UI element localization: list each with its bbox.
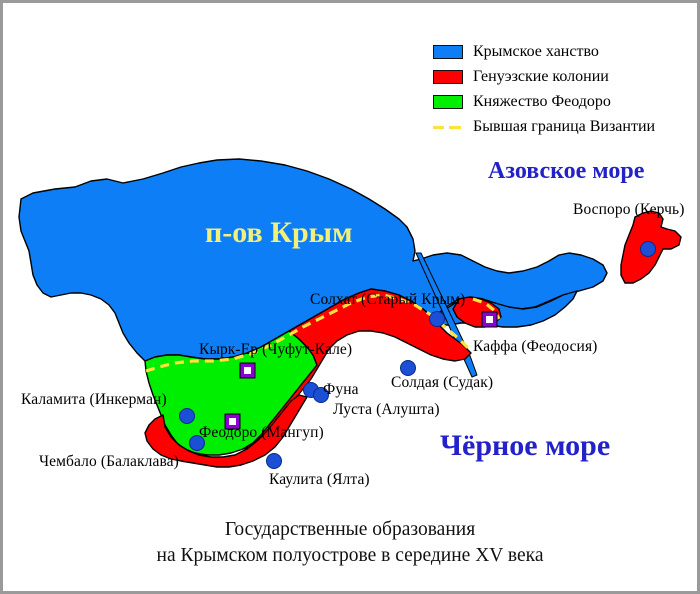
city-label-chembalo: Чембало (Балаклава) xyxy=(39,453,179,471)
green-swatch-icon xyxy=(433,95,463,109)
peninsula-label-crimea: п-ов Крым xyxy=(205,216,353,250)
legend-item-khanate: Крымское ханство xyxy=(433,41,655,63)
city-label-kalamita: Каламита (Инкерман) xyxy=(21,391,167,409)
figure-caption: Государственные образования на Крымском … xyxy=(3,517,697,569)
city-label-kyrk-er: Кырк-Ер (Чуфут-Кале) xyxy=(199,341,352,359)
city-label-bosporo: Воспоро (Керчь) xyxy=(573,201,684,219)
sea-label-azov: Азовское море xyxy=(488,158,644,185)
city-dot-kalamita xyxy=(180,409,195,424)
legend-item-byzantine-border: Бывшая граница Византии xyxy=(433,116,655,138)
city-label-soldaya: Солдая (Судак) xyxy=(391,374,493,392)
yellow-dashed-line-icon xyxy=(433,120,463,134)
sea-label-black: Чёрное море xyxy=(440,429,610,463)
legend-item-theodoro: Княжество Феодоро xyxy=(433,91,655,113)
city-dot-solkhat xyxy=(430,312,445,327)
legend-label-theodoro: Княжество Феодоро xyxy=(473,94,611,110)
city-label-lusta: Луста (Алушта) xyxy=(333,401,440,419)
legend-label-khanate: Крымское ханство xyxy=(473,44,599,60)
red-swatch-icon xyxy=(433,70,463,84)
city-label-kaffa: Каффа (Феодосия) xyxy=(473,338,597,356)
city-dot-bosporo xyxy=(641,242,656,257)
capital-marker-kyrk-er xyxy=(240,363,255,378)
city-label-funa: Фуна xyxy=(323,381,359,399)
city-label-theodoro: Феодоро (Мангуп) xyxy=(199,424,324,442)
city-label-solkhat: Солхат (Старый Крым) xyxy=(310,291,465,309)
legend-item-genoese: Генуэзские колонии xyxy=(433,66,655,88)
legend: Крымское ханство Генуэзские колонии Княж… xyxy=(433,41,655,141)
city-label-kaulita: Каулита (Ялта) xyxy=(269,471,370,489)
map-figure: Крымское ханство Генуэзские колонии Княж… xyxy=(0,0,700,594)
legend-label-byzantine-border: Бывшая граница Византии xyxy=(473,119,655,135)
caption-line-1: Государственные образования xyxy=(3,517,697,543)
legend-label-genoese: Генуэзские колонии xyxy=(473,69,609,85)
caption-line-2: на Крымском полуострове в середине XV ве… xyxy=(3,543,697,569)
city-dot-kaulita xyxy=(267,454,282,469)
capital-marker-kaffa xyxy=(482,312,497,327)
blue-swatch-icon xyxy=(433,45,463,59)
